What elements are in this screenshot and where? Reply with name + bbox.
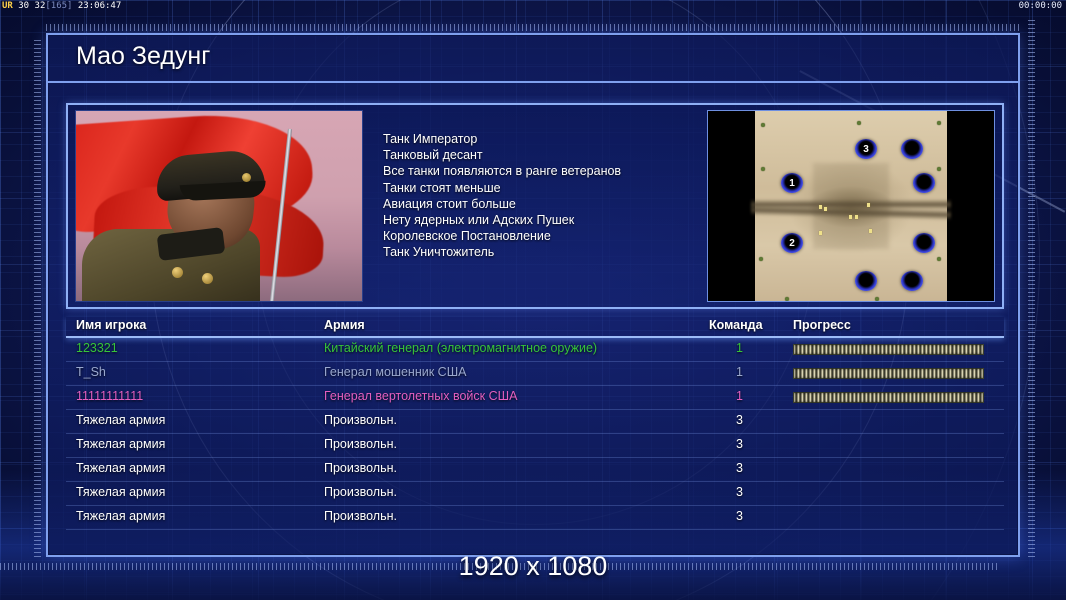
minimap-supply: [849, 215, 852, 219]
cell-progress-bar: [793, 344, 984, 355]
minimap-supply: [855, 215, 858, 219]
minimap-start-position: [913, 173, 935, 193]
cell-army: Произвольн.: [324, 437, 397, 451]
minimap-start-position: 1: [781, 173, 803, 193]
table-row: Тяжелая армия Произвольн. 3: [66, 482, 1004, 506]
table-row: Тяжелая армия Произвольн. 3: [66, 506, 1004, 530]
osd-val2: 32: [35, 1, 46, 11]
loading-screen-frame: Мао Зедунг Танк Император Танковый де: [46, 33, 1020, 557]
cell-team: 3: [736, 461, 743, 475]
description-line: Авиация стоит больше: [383, 196, 713, 212]
cell-team: 3: [736, 485, 743, 499]
general-portrait: [75, 110, 363, 302]
minimap-start-position: 3: [855, 139, 877, 159]
description-line: Танковый десант: [383, 147, 713, 163]
table-row: Тяжелая армия Произвольн. 3: [66, 410, 1004, 434]
cell-team: 3: [736, 437, 743, 451]
minimap-start-position: [855, 271, 877, 291]
minimap-tree: [937, 257, 941, 261]
minimap-supply: [867, 203, 870, 207]
minimap-start-position: 2: [781, 233, 803, 253]
cell-team: 3: [736, 509, 743, 523]
cell-team: 3: [736, 413, 743, 427]
minimap-container: 3 1 2: [707, 110, 995, 302]
table-row: Тяжелая армия Произвольн. 3: [66, 458, 1004, 482]
cell-team: 1: [736, 365, 743, 379]
minimap-tree: [937, 121, 941, 125]
cell-army: Произвольн.: [324, 461, 397, 475]
portrait-cap-badge: [242, 173, 251, 182]
cell-player-name: Тяжелая армия: [76, 437, 165, 451]
minimap-tree: [937, 167, 941, 171]
minimap-tree: [761, 123, 765, 127]
portrait-button-2: [202, 273, 213, 284]
cell-team: 1: [736, 341, 743, 355]
minimap-tree: [761, 167, 765, 171]
general-description-list: Танк Император Танковый десант Все танки…: [383, 131, 713, 261]
description-line: Все танки появляются в ранге ветеранов: [383, 163, 713, 179]
cell-army: Произвольн.: [324, 509, 397, 523]
description-line: Танк Император: [383, 131, 713, 147]
cell-army: Китайский генерал (электромагнитное оруж…: [324, 341, 597, 355]
cell-army: Генерал вертолетных войск США: [324, 389, 517, 403]
cell-progress-bar: [793, 392, 984, 403]
minimap-supply: [824, 207, 827, 211]
cell-player-name: 123321: [76, 341, 118, 355]
header-team: Команда: [709, 318, 763, 332]
header-progress: Прогресс: [793, 318, 851, 332]
cell-army: Произвольн.: [324, 485, 397, 499]
osd-val1: 30: [18, 1, 29, 11]
game-screen: UR 30 32[165] 23:06:47 00:00:00 Мао Зеду…: [0, 0, 1066, 600]
title-bar: Мао Зедунг: [48, 35, 1018, 83]
osd-prefix: UR: [2, 1, 13, 11]
cell-player-name: 11111111111: [76, 389, 143, 403]
minimap-start-position: [901, 271, 923, 291]
minimap-supply: [819, 231, 822, 235]
cell-player-name: Тяжелая армия: [76, 485, 165, 499]
description-line: Нету ядерных или Адских Пушек: [383, 212, 713, 228]
description-line: Королевское Постановление: [383, 228, 713, 244]
minimap-tree: [875, 297, 879, 301]
header-army: Армия: [324, 318, 365, 332]
cell-player-name: Тяжелая армия: [76, 509, 165, 523]
player-list: Имя игрока Армия Команда Прогресс 123321…: [66, 317, 1004, 541]
minimap-supply: [869, 229, 872, 233]
osd-clock: 23:06:47: [78, 1, 121, 11]
cell-progress-bar: [793, 368, 984, 379]
resolution-overlay: 1920 x 1080: [0, 551, 1066, 582]
cell-army: Генерал мошенник США: [324, 365, 467, 379]
page-title: Мао Зедунг: [76, 42, 210, 71]
osd-bracket: [165]: [45, 1, 72, 11]
osd-left-readout: UR 30 32[165] 23:06:47: [2, 1, 121, 11]
portrait-button-1: [172, 267, 183, 278]
table-row: 11111111111 Генерал вертолетных войск СШ…: [66, 386, 1004, 410]
general-info-panel: Танк Император Танковый десант Все танки…: [66, 103, 1004, 309]
cell-player-name: T_Sh: [76, 365, 106, 379]
minimap-start-position: [913, 233, 935, 253]
cell-player-name: Тяжелая армия: [76, 413, 165, 427]
table-row: 123321 Китайский генерал (электромагнитн…: [66, 338, 1004, 362]
table-row: T_Sh Генерал мошенник США 1: [66, 362, 1004, 386]
table-row: Тяжелая армия Произвольн. 3: [66, 434, 1004, 458]
description-line: Танк Уничтожитель: [383, 244, 713, 260]
description-line: Танки стоят меньше: [383, 180, 713, 196]
player-list-header: Имя игрока Армия Команда Прогресс: [66, 317, 1004, 338]
cell-team: 1: [736, 389, 743, 403]
cell-player-name: Тяжелая армия: [76, 461, 165, 475]
minimap-tree: [785, 297, 789, 301]
osd-bar: UR 30 32[165] 23:06:47 00:00:00: [0, 0, 1066, 13]
minimap-supply: [819, 205, 822, 209]
minimap-start-position: [901, 139, 923, 159]
osd-match-timer: 00:00:00: [1019, 1, 1062, 11]
minimap-image: 3 1 2: [755, 111, 947, 302]
header-player-name: Имя игрока: [76, 318, 146, 332]
cell-army: Произвольн.: [324, 413, 397, 427]
minimap-tree: [759, 257, 763, 261]
minimap-tree: [857, 121, 861, 125]
